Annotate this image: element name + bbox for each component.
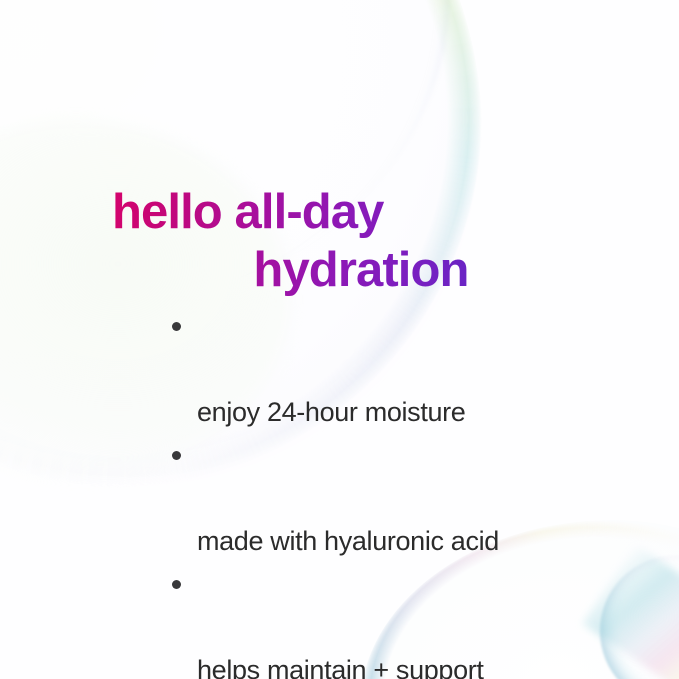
product-benefits-graphic: hello all-dayhydration enjoy 24-hour moi… (0, 0, 679, 679)
bullet-dot-icon (172, 451, 181, 460)
headline-line-1: hello all-day (112, 185, 384, 239)
benefits-list: enjoy 24-hour moisture made with hyaluro… (172, 305, 499, 679)
headline-line-2: hydration (112, 241, 632, 299)
list-item: enjoy 24-hour moisture (172, 305, 499, 434)
content-area: hello all-dayhydration enjoy 24-hour moi… (0, 0, 679, 679)
page-title: hello all-dayhydration (112, 183, 632, 299)
list-item: helps maintain + support skin barrier pr… (172, 563, 499, 679)
list-item: made with hyaluronic acid (172, 434, 499, 563)
list-item-label: helps maintain + support skin barrier pr… (197, 655, 484, 679)
bullet-dot-icon (172, 580, 181, 589)
list-item-label: enjoy 24-hour moisture (197, 397, 465, 427)
bullet-dot-icon (172, 322, 181, 331)
list-item-label: made with hyaluronic acid (197, 526, 499, 556)
